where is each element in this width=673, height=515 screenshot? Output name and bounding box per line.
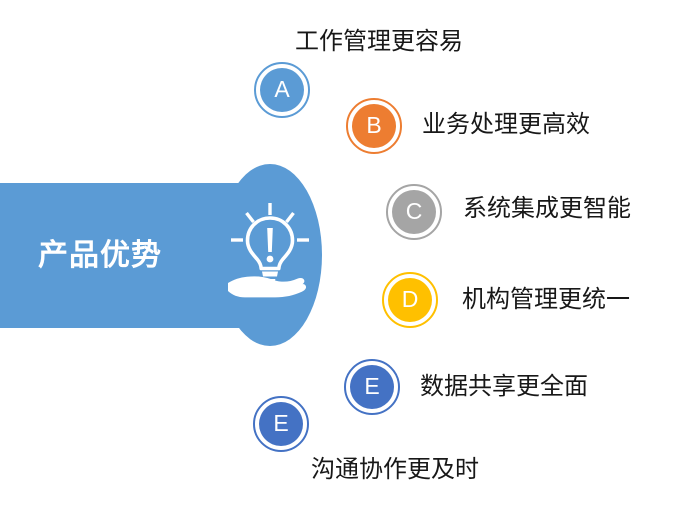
badge-circle[interactable]: A	[254, 62, 310, 118]
badge-letter: A	[274, 78, 289, 101]
badge-letter: E	[364, 375, 379, 398]
item-label: 沟通协作更及时	[311, 455, 479, 485]
item-label: 机构管理更统一	[462, 285, 630, 315]
item-label: 系统集成更智能	[463, 194, 631, 224]
badge-circle-fill: A	[260, 68, 304, 112]
badge-circle-fill: E	[259, 402, 303, 446]
item-label: 工作管理更容易	[295, 27, 463, 57]
badge-circle[interactable]: D	[382, 272, 438, 328]
badge-letter: B	[366, 114, 381, 137]
lightbulb-in-hand-icon	[226, 200, 314, 300]
badge-circle-fill: D	[388, 278, 432, 322]
badge-circle-fill: E	[350, 365, 394, 409]
badge-letter: E	[273, 412, 288, 435]
badge-circle-fill: B	[352, 104, 396, 148]
badge-circle[interactable]: E	[253, 396, 309, 452]
badge-circle[interactable]: C	[386, 184, 442, 240]
item-label: 数据共享更全面	[420, 372, 588, 402]
badge-letter: D	[402, 288, 419, 311]
badge-circle[interactable]: B	[346, 98, 402, 154]
diagram-canvas: 产品优势 A	[0, 0, 673, 515]
badge-circle-fill: C	[392, 190, 436, 234]
badge-circle[interactable]: E	[344, 359, 400, 415]
item-label: 业务处理更高效	[422, 110, 590, 140]
badge-letter: C	[406, 200, 423, 223]
banner-title: 产品优势	[38, 236, 208, 276]
